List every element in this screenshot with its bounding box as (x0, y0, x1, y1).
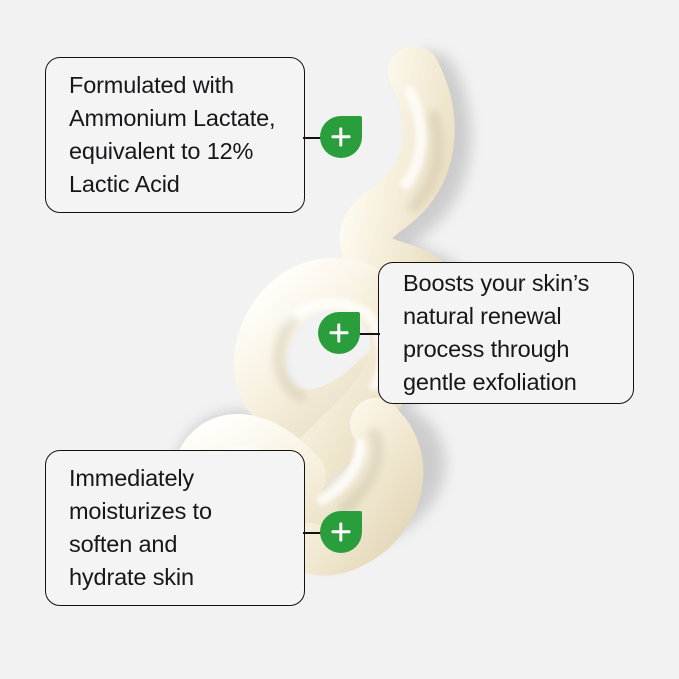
plus-leaf-icon (320, 511, 362, 553)
plus-glyph (320, 511, 362, 553)
plus-glyph (318, 312, 360, 354)
callout-text-3: Immediately moisturizes to soften and hy… (69, 462, 212, 594)
callout-box-3: Immediately moisturizes to soften and hy… (45, 450, 305, 606)
callout-box-2: Boosts your skin’s natural renewal proce… (378, 262, 634, 404)
callout-text-1: Formulated with Ammonium Lactate, equiva… (69, 69, 275, 201)
callout-box-1: Formulated with Ammonium Lactate, equiva… (45, 57, 305, 213)
plus-leaf-icon (320, 116, 362, 158)
plus-glyph (320, 116, 362, 158)
callout-text-2: Boosts your skin’s natural renewal proce… (403, 267, 589, 399)
plus-leaf-icon (318, 312, 360, 354)
product-feature-infographic: Formulated with Ammonium Lactate, equiva… (0, 0, 679, 679)
